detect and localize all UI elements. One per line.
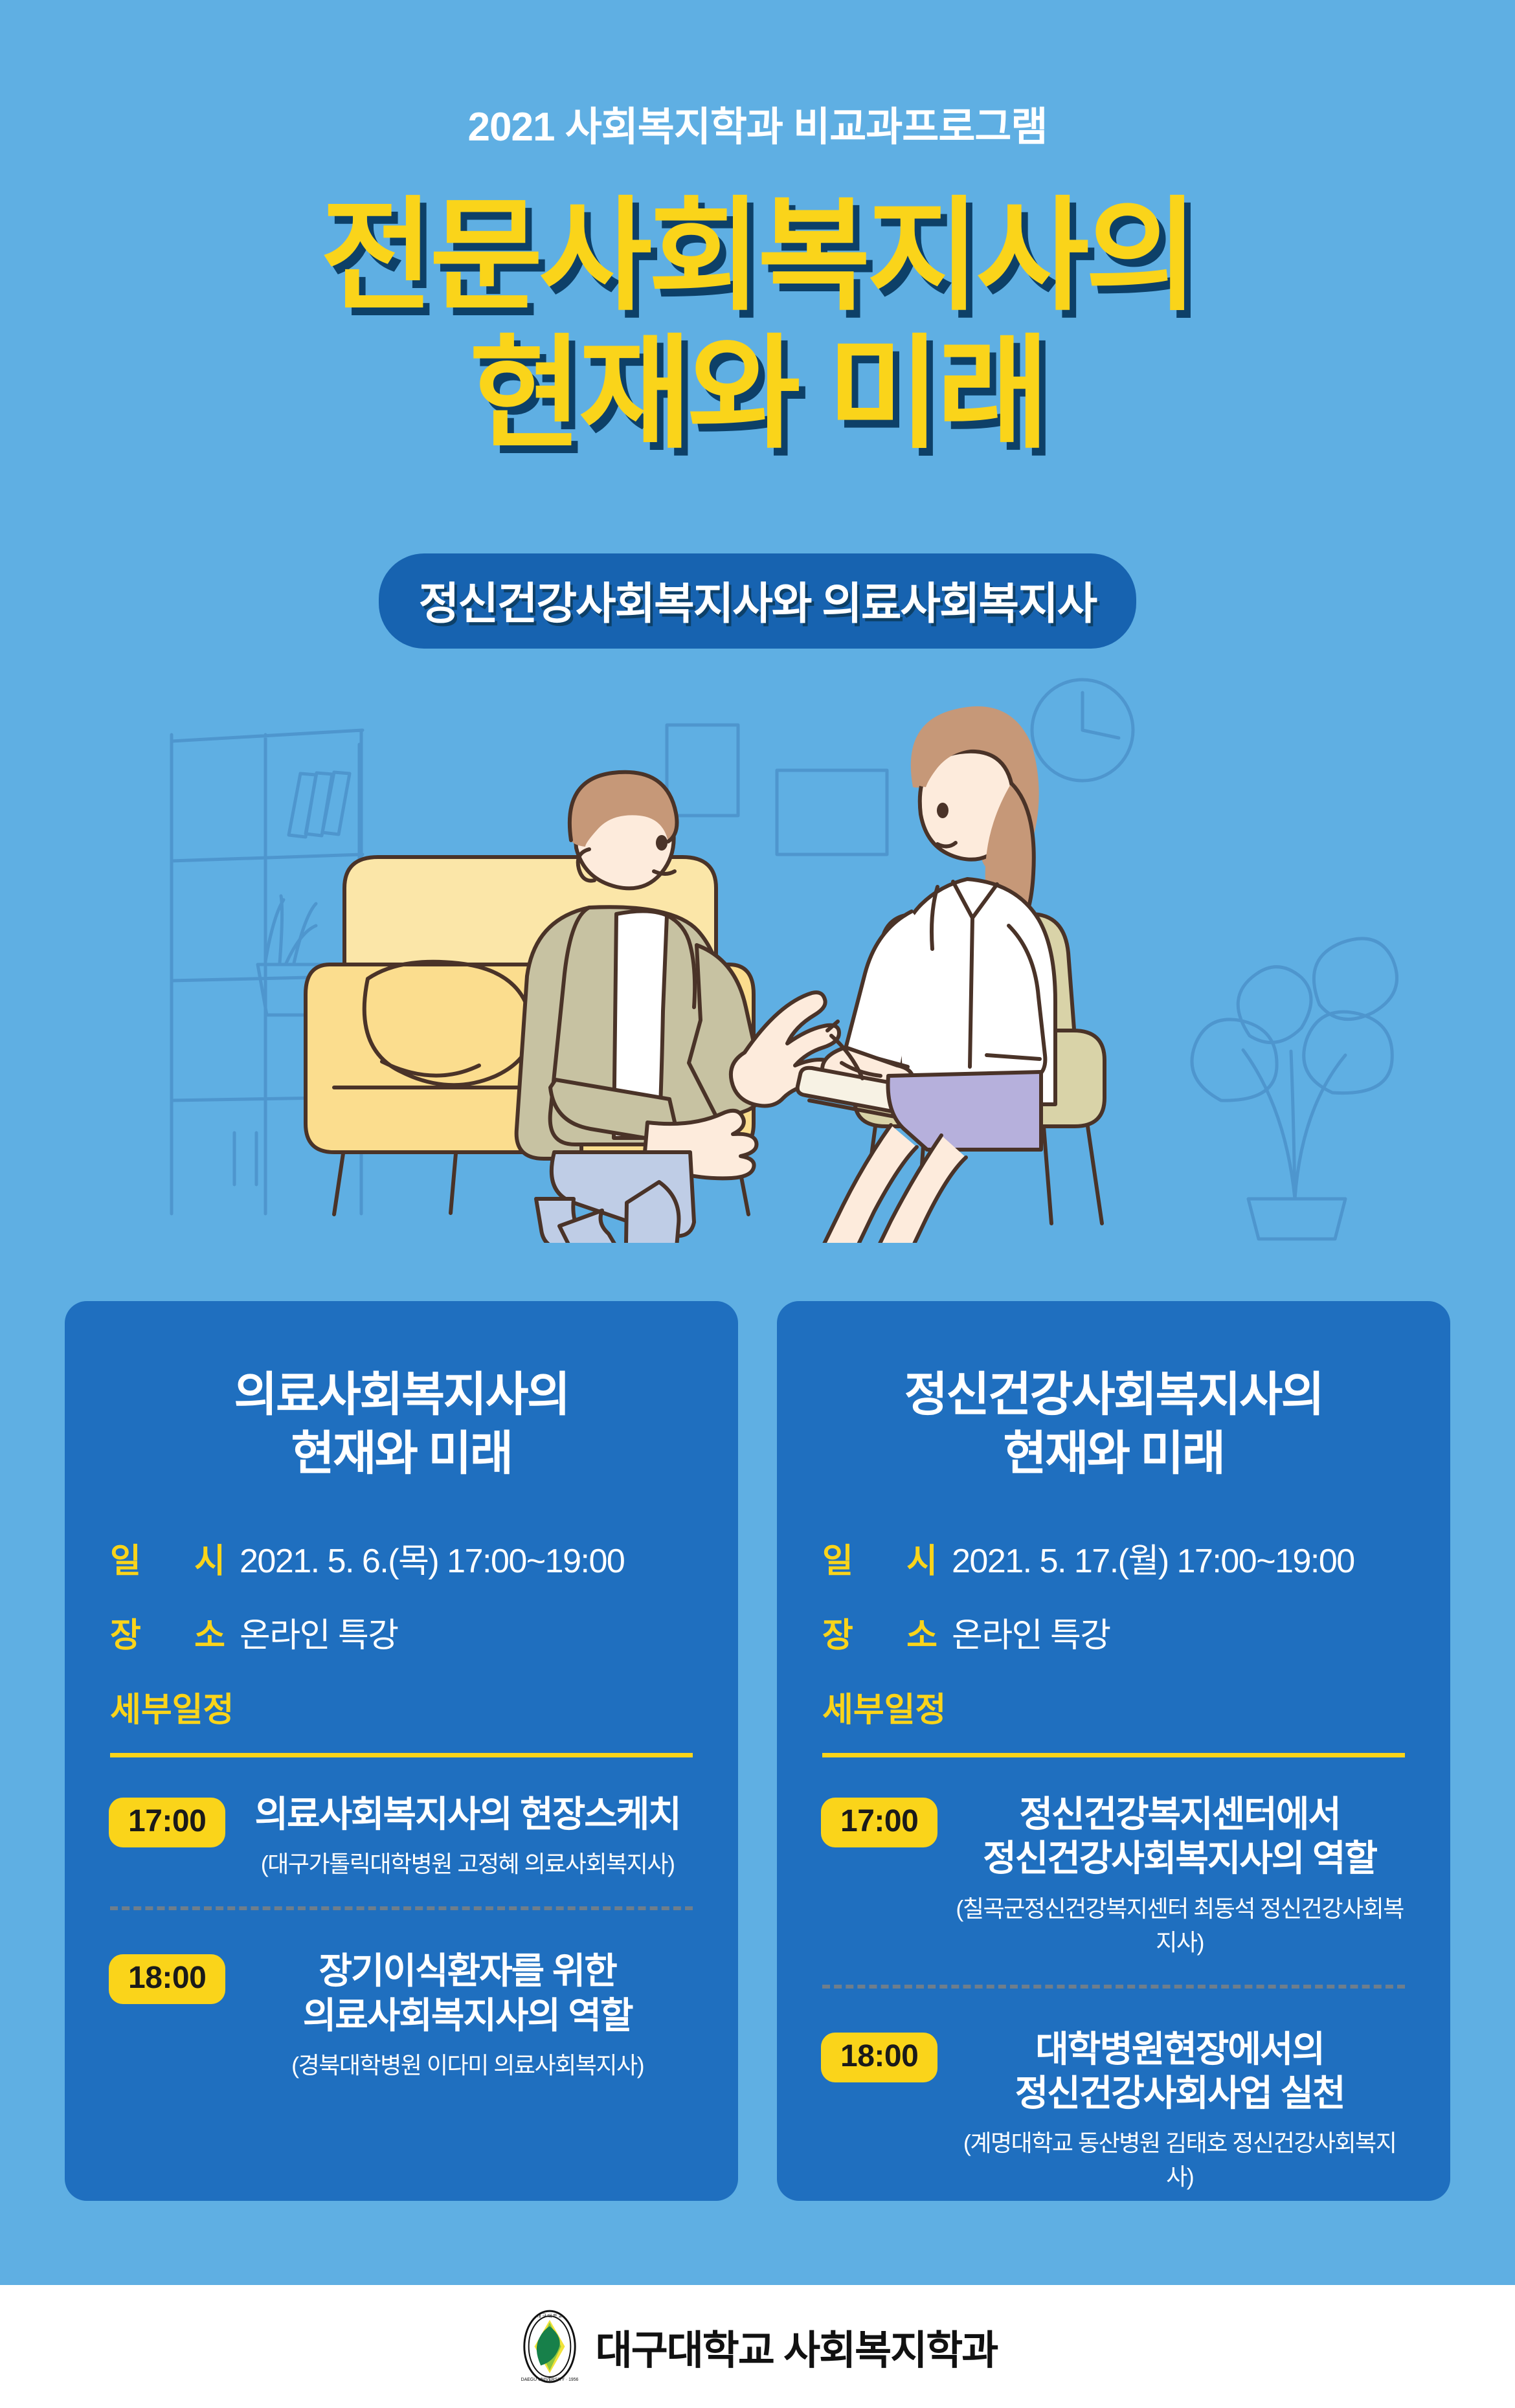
card-title-line-1: 의료사회복지사의	[105, 1366, 698, 1425]
card-title-line-1: 정신건강사회복지사의	[817, 1366, 1410, 1425]
session-divider-dashed	[822, 1985, 1405, 1989]
date-label: 일 시	[110, 1533, 240, 1582]
session-speaker: (대구가톨릭대학병원 고정혜 의료사회복지사)	[241, 1845, 694, 1879]
date-row: 일 시 2021. 5. 17.(월) 17:00~19:00	[817, 1533, 1410, 1582]
card-title-line-2: 현재와 미래	[105, 1425, 698, 1484]
session-time-badge: 18:00	[109, 1954, 225, 2004]
card-title: 정신건강사회복지사의 현재와 미래	[817, 1366, 1410, 1483]
schedule-divider-solid	[822, 1753, 1405, 1757]
session-title-line-2: 정신건강사회복지사의 역할	[953, 1836, 1406, 1880]
schedule-label: 세부일정	[817, 1682, 1410, 1731]
date-value: 2021. 5. 6.(목) 17:00~19:00	[240, 1533, 624, 1582]
main-title-line-1: 전문사회복지사의	[0, 188, 1515, 326]
session-speaker: (계명대학교 동산병원 김태호 정신건강사회복지사)	[953, 2124, 1406, 2192]
subtitle-banner: 정신건강사회복지사와 의료사회복지사	[379, 553, 1136, 649]
session-time-badge: 17:00	[821, 1798, 937, 1847]
session-item: 17:00 정신건강복지센터에서 정신건강사회복지사의 역할 (칠곡군정신건강복…	[817, 1792, 1410, 1957]
session-title-line-1: 정신건강복지센터에서	[953, 1792, 1406, 1836]
place-value: 온라인 특강	[952, 1608, 1110, 1656]
session-body: 장기이식환자를 위한 의료사회복지사의 역할 (경북대학병원 이다미 의료사회복…	[241, 1949, 698, 2080]
program-kicker: 2021 사회복지학과 비교과프로그램	[0, 94, 1515, 152]
place-label: 장 소	[822, 1608, 952, 1656]
date-value: 2021. 5. 17.(월) 17:00~19:00	[952, 1533, 1354, 1582]
schedule-label: 세부일정	[105, 1682, 698, 1731]
place-label-b: 소	[906, 1608, 937, 1656]
card-title-line-2: 현재와 미래	[817, 1425, 1410, 1484]
poster-root: 2021 사회복지학과 비교과프로그램 전문사회복지사의 현재와 미래 정신건강…	[0, 0, 1515, 2408]
session-time-badge: 17:00	[109, 1798, 225, 1847]
subtitle-banner-text: 정신건강사회복지사와 의료사회복지사	[419, 568, 1096, 632]
place-value: 온라인 특강	[240, 1608, 398, 1656]
svg-text:DAEGU UNIVERSITY · 1956: DAEGU UNIVERSITY · 1956	[521, 2378, 578, 2382]
date-label-a: 일	[822, 1533, 853, 1582]
svg-text:대 구 대 학 교: 대 구 대 학 교	[537, 2313, 562, 2319]
session-body: 의료사회복지사의 현장스케치 (대구가톨릭대학병원 고정혜 의료사회복지사)	[241, 1792, 698, 1879]
program-card-medical: 의료사회복지사의 현재와 미래 일 시 2021. 5. 6.(목) 17:00…	[65, 1301, 738, 2201]
man-client-figure	[517, 772, 839, 1243]
session-divider-dashed	[110, 1906, 693, 1910]
session-item: 18:00 장기이식환자를 위한 의료사회복지사의 역할 (경북대학병원 이다미…	[105, 1949, 698, 2080]
place-label-a: 장	[822, 1608, 853, 1656]
session-time-badge: 18:00	[821, 2033, 937, 2082]
session-body: 정신건강복지센터에서 정신건강사회복지사의 역할 (칠곡군정신건강복지센터 최동…	[953, 1792, 1410, 1957]
poster-main-title: 전문사회복지사의 현재와 미래	[0, 188, 1515, 463]
footer-organization: 대구대학교 사회복지학과	[596, 2317, 998, 2376]
program-card-mental-health: 정신건강사회복지사의 현재와 미래 일 시 2021. 5. 17.(월) 17…	[777, 1301, 1450, 2201]
session-title-line-1: 장기이식환자를 위한	[241, 1949, 694, 1993]
session-title-line-1: 대학병원현장에서의	[953, 2027, 1406, 2071]
main-title-line-2: 현재와 미래	[0, 326, 1515, 463]
daegu-university-emblem-icon: 대 구 대 학 교 DAEGU UNIVERSITY · 1956	[518, 2308, 581, 2385]
session-speaker: (경북대학병원 이다미 의료사회복지사)	[241, 2047, 694, 2080]
session-speaker: (칠곡군정신건강복지센터 최동석 정신건강사회복지사)	[953, 1890, 1406, 1957]
place-label: 장 소	[110, 1608, 240, 1656]
date-row: 일 시 2021. 5. 6.(목) 17:00~19:00	[105, 1533, 698, 1582]
program-cards: 의료사회복지사의 현재와 미래 일 시 2021. 5. 6.(목) 17:00…	[65, 1301, 1450, 2201]
schedule-divider-solid	[110, 1753, 693, 1757]
session-item: 18:00 대학병원현장에서의 정신건강사회사업 실천 (계명대학교 동산병원 …	[817, 2027, 1410, 2192]
picture-frame-outline	[667, 725, 887, 854]
date-label-b: 시	[194, 1533, 225, 1582]
wall-clock-outline	[1032, 680, 1133, 781]
session-title-line-1: 의료사회복지사의 현장스케치	[241, 1792, 694, 1836]
place-row: 장 소 온라인 특강	[105, 1608, 698, 1656]
subtitle-banner-wrap: 정신건강사회복지사와 의료사회복지사	[0, 553, 1515, 649]
poster-footer: 대 구 대 학 교 DAEGU UNIVERSITY · 1956 대구대학교 …	[0, 2285, 1515, 2408]
place-label-b: 소	[194, 1608, 225, 1656]
place-row: 장 소 온라인 특강	[817, 1608, 1410, 1656]
session-body: 대학병원현장에서의 정신건강사회사업 실천 (계명대학교 동산병원 김태호 정신…	[953, 2027, 1410, 2192]
date-label-a: 일	[110, 1533, 141, 1582]
session-title-line-2: 정신건강사회사업 실천	[953, 2071, 1406, 2115]
place-label-a: 장	[110, 1608, 141, 1656]
date-label: 일 시	[822, 1533, 952, 1582]
woman-counselor-figure	[782, 706, 1055, 1243]
session-title-line-2: 의료사회복지사의 역할	[241, 1994, 694, 2038]
date-label-b: 시	[906, 1533, 937, 1582]
monstera-plant-outline	[1192, 939, 1397, 1239]
session-item: 17:00 의료사회복지사의 현장스케치 (대구가톨릭대학병원 고정혜 의료사회…	[105, 1792, 698, 1879]
counseling-session-illustration: .ol{fill:none;stroke:#4E96CE;stroke-widt…	[136, 673, 1398, 1243]
card-title: 의료사회복지사의 현재와 미래	[105, 1366, 698, 1483]
